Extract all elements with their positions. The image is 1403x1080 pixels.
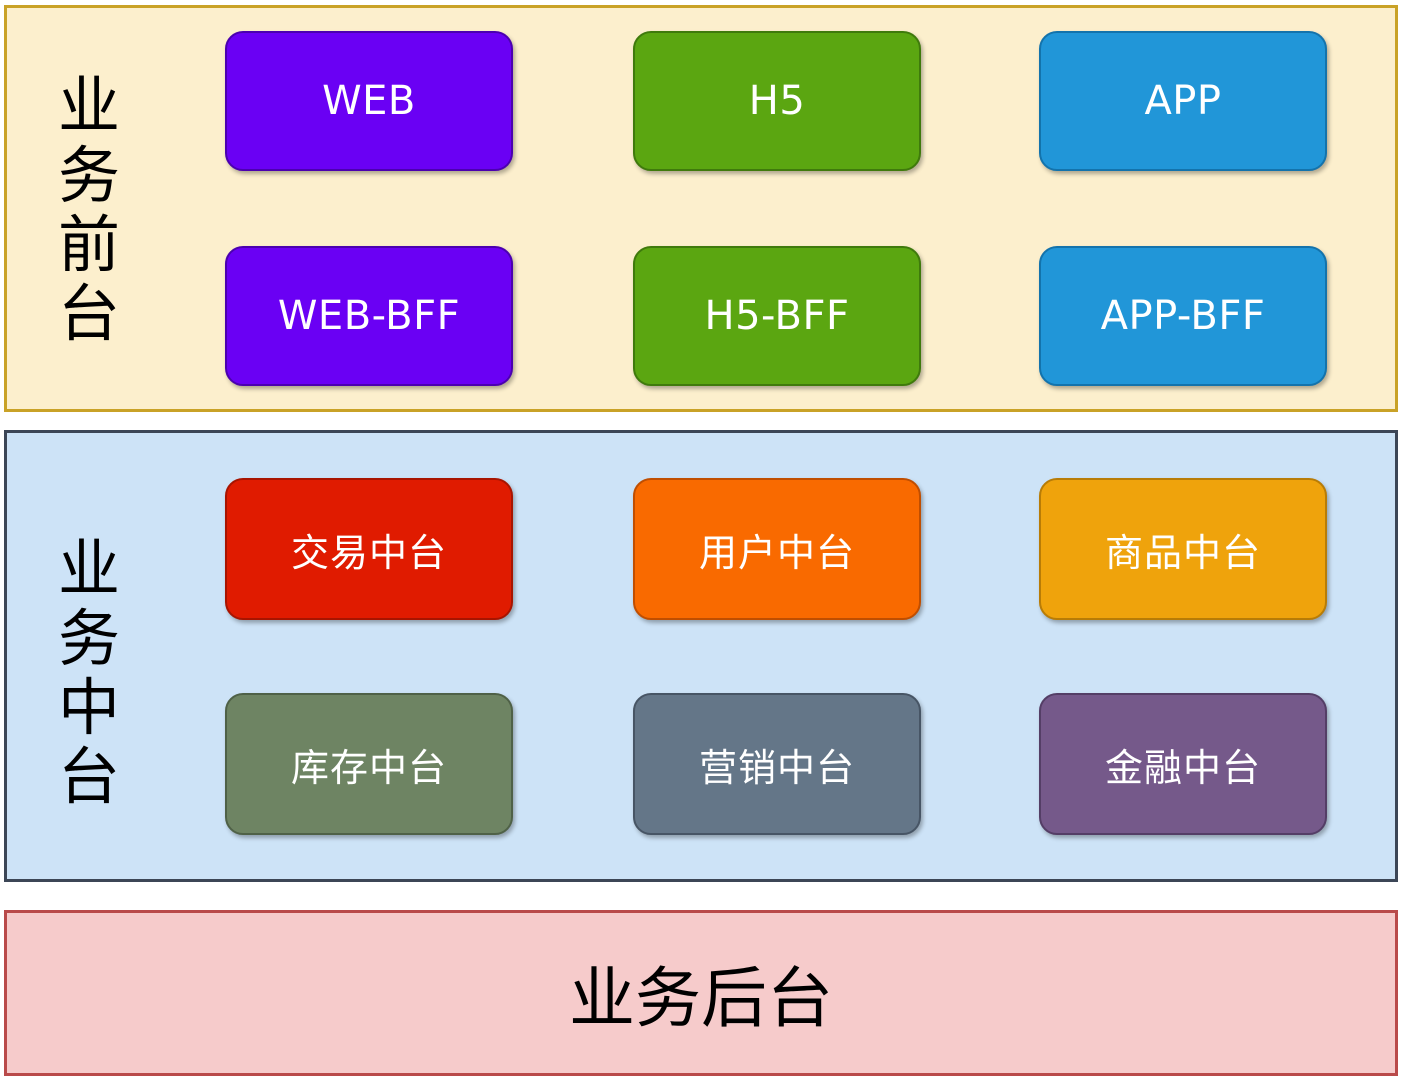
band-label-char: 务 [58,141,120,210]
node-app-bff[interactable]: APP-BFF [1039,246,1327,386]
node-finance-middle-platform[interactable]: 金融中台 [1039,693,1327,835]
band-label-char: 中 [58,673,120,742]
band-business-middle: 业 务 中 台 交易中台 用户中台 商品中台 库存中台 营销中台 金融中台 [4,430,1398,882]
band-business-back: 业务后台 [4,910,1398,1076]
band-label-business-front: 业 务 前 台 [41,30,137,390]
band-label-business-back: 业务后台 [7,913,1395,1073]
band-label-business-middle: 业 务 中 台 [41,493,137,853]
band-label-char: 台 [58,742,120,811]
band-business-front: 业 务 前 台 WEB H5 APP WEB-BFF H5-BFF APP-BF… [4,5,1398,412]
node-app[interactable]: APP [1039,31,1327,171]
node-web[interactable]: WEB [225,31,513,171]
node-product-middle-platform[interactable]: 商品中台 [1039,478,1327,620]
band-label-char: 业 [58,534,120,603]
node-trade-middle-platform[interactable]: 交易中台 [225,478,513,620]
node-inventory-middle-platform[interactable]: 库存中台 [225,693,513,835]
node-web-bff[interactable]: WEB-BFF [225,246,513,386]
band-label-char: 台 [58,279,120,348]
architecture-diagram: 业 务 前 台 WEB H5 APP WEB-BFF H5-BFF APP-BF… [0,0,1403,1080]
node-h5-bff[interactable]: H5-BFF [633,246,921,386]
band-label-char: 前 [58,210,120,279]
node-h5[interactable]: H5 [633,31,921,171]
band-label-char: 务 [58,604,120,673]
band-label-char: 业 [58,71,120,140]
node-user-middle-platform[interactable]: 用户中台 [633,478,921,620]
node-marketing-middle-platform[interactable]: 营销中台 [633,693,921,835]
